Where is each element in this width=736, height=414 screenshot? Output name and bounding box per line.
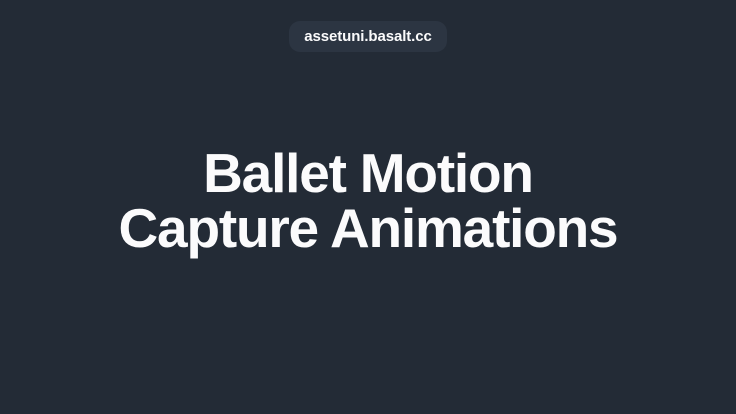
domain-badge[interactable]: assetuni.basalt.cc [289, 21, 446, 52]
badge-row: assetuni.basalt.cc [0, 21, 736, 52]
page-title: Ballet Motion Capture Animations [119, 146, 618, 256]
page-canvas: assetuni.basalt.cc Ballet Motion Capture… [0, 0, 736, 414]
page-title-line-1: Ballet Motion [119, 146, 618, 201]
headline-block: Ballet Motion Capture Animations [0, 0, 736, 414]
page-title-line-2: Capture Animations [119, 201, 618, 256]
domain-badge-label: assetuni.basalt.cc [304, 29, 431, 44]
